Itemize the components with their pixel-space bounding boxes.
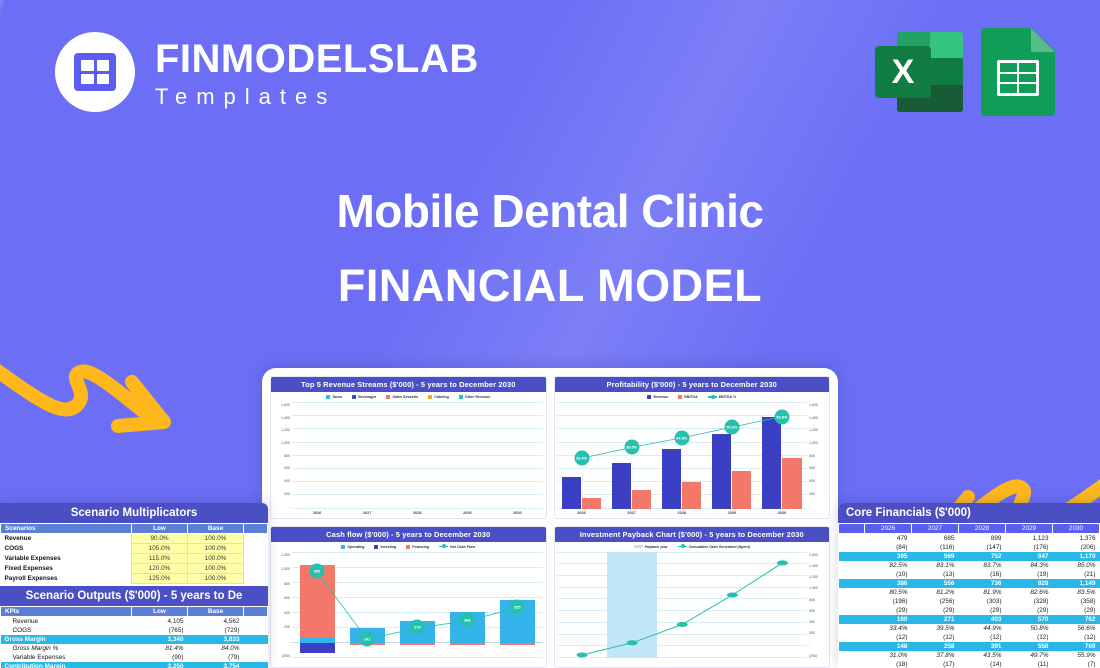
x-tick: 2028 bbox=[413, 511, 421, 515]
cell-value: 43.5% bbox=[959, 651, 1006, 660]
row-spacer bbox=[839, 579, 865, 588]
legend-item: Operating bbox=[341, 545, 364, 549]
legend-label: Catering bbox=[434, 395, 449, 399]
col-base: Base bbox=[188, 524, 244, 534]
bar-group bbox=[292, 402, 543, 509]
cell-value: 85.0% bbox=[1053, 561, 1100, 570]
row-spacer bbox=[839, 642, 865, 651]
chart-profitability[interactable]: Profitability ($'000) - 5 years to Decem… bbox=[554, 376, 831, 519]
cell-value: (84) bbox=[865, 543, 912, 552]
legend-label: Beverages bbox=[358, 395, 376, 399]
legend-item: Revenue bbox=[647, 395, 668, 399]
y-axis: 1,600 1,400 1,200 1,000 800 600 400 200 … bbox=[807, 552, 826, 668]
row-spacer bbox=[839, 651, 865, 660]
cell-value: 395 bbox=[865, 552, 912, 561]
cell-value: (7) bbox=[1053, 660, 1100, 668]
row-spacer bbox=[839, 615, 865, 624]
data-label: 39.5% bbox=[624, 440, 639, 455]
page-title: Mobile Dental Clinic FINANCIAL MODEL bbox=[0, 185, 1100, 312]
legend-label: Investing bbox=[380, 545, 396, 549]
cell-value: 49.7% bbox=[1006, 651, 1053, 660]
legend-item: EBITDA bbox=[678, 395, 697, 399]
cell-value: (18) bbox=[865, 660, 912, 668]
row-spacer bbox=[839, 561, 865, 570]
cell-base: 4,562 bbox=[188, 617, 244, 627]
table-row[interactable]: Fixed Expenses120.0%100.0% bbox=[1, 564, 268, 574]
arrow-left-decoration bbox=[0, 300, 222, 490]
cell-low: 4,105 bbox=[132, 617, 188, 627]
y-tick: 200 bbox=[809, 492, 815, 496]
cell-value: (29) bbox=[912, 606, 959, 615]
legend-item: Tacos bbox=[326, 395, 342, 399]
row-spacer bbox=[839, 597, 865, 606]
cell-value: 50.8% bbox=[1006, 624, 1053, 633]
cell-base: 100.0% bbox=[188, 564, 244, 574]
cell-value: (29) bbox=[865, 606, 912, 615]
table-row[interactable]: 3955697529471,170 bbox=[839, 552, 1100, 561]
cell-value: 55.9% bbox=[1053, 651, 1100, 660]
table-row[interactable]: Variable Expenses(90)(79) bbox=[1, 653, 268, 662]
col-spacer bbox=[839, 524, 865, 534]
data-label: 33.4% bbox=[574, 451, 589, 466]
legend-label: Net Cash Flow bbox=[450, 545, 475, 549]
y-tick: 1,200 bbox=[281, 553, 290, 557]
data-label: 525 bbox=[510, 600, 525, 615]
data-label: 56.8% bbox=[774, 409, 789, 424]
legend-item: Financing bbox=[406, 545, 429, 549]
col-base: Base bbox=[188, 607, 244, 617]
table-row[interactable]: (10)(13)(16)(19)(21) bbox=[839, 570, 1100, 579]
cell-low: 105.0% bbox=[132, 544, 188, 554]
row-label: Fixed Expenses bbox=[1, 564, 132, 574]
cell-value: 556 bbox=[912, 579, 959, 588]
row-label: COGS bbox=[1, 626, 132, 635]
cell-value: 258 bbox=[912, 642, 959, 651]
table-row[interactable]: Variable Expenses115.0%100.0% bbox=[1, 554, 268, 564]
chart-legend: Payback year Cumulative Cash Generated (… bbox=[555, 542, 830, 550]
x-axis: 2026 2027 2028 2029 2030 bbox=[557, 509, 808, 518]
col-kpis: KPIs bbox=[1, 607, 132, 617]
table-row[interactable]: (18)(17)(14)(11)(7) bbox=[839, 660, 1100, 668]
net-cash-flow-line bbox=[292, 552, 543, 668]
y-tick: 1,000 bbox=[281, 441, 290, 445]
cell-value: 752 bbox=[959, 552, 1006, 561]
y-tick: 1,600 bbox=[809, 403, 818, 407]
data-label: 44.9% bbox=[674, 430, 689, 445]
data-label: 959 bbox=[310, 564, 325, 579]
cell-value: (358) bbox=[1053, 597, 1100, 606]
cell-extra bbox=[244, 626, 268, 635]
cell-value: (16) bbox=[959, 570, 1006, 579]
row-label: Revenue bbox=[1, 617, 132, 627]
cell-base: (729) bbox=[188, 626, 244, 635]
y-tick: 1,000 bbox=[281, 567, 290, 571]
cell-extra bbox=[244, 564, 268, 574]
cell-value: 83.5% bbox=[1053, 588, 1100, 597]
chart-investment-payback[interactable]: Investment Payback Chart ($'000) - 5 yea… bbox=[554, 526, 831, 668]
table-header-row: KPIs Low Base bbox=[1, 607, 268, 617]
row-spacer bbox=[839, 534, 865, 544]
row-label: Gross Margin % bbox=[1, 644, 132, 653]
scenario-multiplicators-table[interactable]: Scenarios Low Base Revenue90.0%100.0%COG… bbox=[0, 523, 268, 584]
table-row[interactable]: (196)(256)(303)(328)(358) bbox=[839, 597, 1100, 606]
cell-value: 1,123 bbox=[1006, 534, 1053, 544]
table-row[interactable]: Contribution Margin3,2503,754 bbox=[1, 662, 268, 668]
y-tick: 1,000 bbox=[809, 586, 818, 590]
chart-title: Cash flow ($'000) - 5 years to December … bbox=[271, 527, 546, 542]
row-spacer bbox=[839, 624, 865, 633]
cell-value: (256) bbox=[912, 597, 959, 606]
brand-tagline: Templates bbox=[155, 86, 479, 108]
cell-base: 100.0% bbox=[188, 534, 244, 544]
cumulative-cash-line bbox=[557, 552, 808, 668]
data-label: 141 bbox=[360, 631, 375, 646]
y-tick: 200 bbox=[809, 631, 815, 635]
y-tick: 800 bbox=[284, 582, 290, 586]
cell-value: (12) bbox=[959, 633, 1006, 642]
legend-item: Payback year bbox=[634, 545, 668, 549]
cell-value: 899 bbox=[959, 534, 1006, 544]
x-tick: 2027 bbox=[627, 511, 635, 515]
table-row[interactable]: 33.4%39.5%44.9%50.8%56.6% bbox=[839, 624, 1100, 633]
cell-value: 403 bbox=[959, 615, 1006, 624]
x-tick: 2029 bbox=[463, 511, 471, 515]
cell-value: 1,170 bbox=[1053, 552, 1100, 561]
cell-value: (12) bbox=[1053, 633, 1100, 642]
table-row[interactable]: 82.5%83.1%83.7%84.3%85.0% bbox=[839, 561, 1100, 570]
y-tick: 1,400 bbox=[281, 416, 290, 420]
col-low: Low bbox=[132, 607, 188, 617]
y-tick: 600 bbox=[809, 609, 815, 613]
chart-title: Top 5 Revenue Streams ($'000) - 5 years … bbox=[271, 377, 546, 392]
table-row[interactable]: Payroll Expenses125.0%100.0% bbox=[1, 574, 268, 584]
legend-label: EBITDA bbox=[684, 395, 697, 399]
col-low: Low bbox=[132, 524, 188, 534]
cell-value: (303) bbox=[959, 597, 1006, 606]
table-row[interactable]: Revenue4,1054,562 bbox=[1, 617, 268, 627]
y-axis: 1,200 1,000 800 600 400 200 - (200) bbox=[273, 552, 292, 668]
table-row[interactable]: 80.5%81.2%81.9%82.6%83.5% bbox=[839, 588, 1100, 597]
row-label: Contribution Margin bbox=[1, 662, 132, 668]
cell-value: 928 bbox=[1006, 579, 1053, 588]
cell-low: 3,250 bbox=[132, 662, 188, 668]
cell-value: (13) bbox=[912, 570, 959, 579]
data-label: 50.9% bbox=[724, 420, 739, 435]
cell-value: (21) bbox=[1053, 570, 1100, 579]
col-year: 2029 bbox=[1006, 524, 1053, 534]
cell-value: 569 bbox=[912, 552, 959, 561]
col-extra bbox=[244, 524, 268, 534]
col-scenarios: Scenarios bbox=[1, 524, 132, 534]
y-tick: 400 bbox=[809, 479, 815, 483]
table-row[interactable]: 160271403570762 bbox=[839, 615, 1100, 624]
y-tick: 1,600 bbox=[281, 403, 290, 407]
table-row[interactable]: Gross Margin %81.4%84.0% bbox=[1, 644, 268, 653]
x-tick: 2029 bbox=[728, 511, 736, 515]
table-row[interactable]: 148258391558769 bbox=[839, 642, 1100, 651]
cell-value: (12) bbox=[865, 633, 912, 642]
cell-value: 56.6% bbox=[1053, 624, 1100, 633]
cell-value: 83.1% bbox=[912, 561, 959, 570]
cell-value: 84.3% bbox=[1006, 561, 1053, 570]
cell-value: (147) bbox=[959, 543, 1006, 552]
cell-low: 125.0% bbox=[132, 574, 188, 584]
chart-legend: Revenue EBITDA EBITDA % bbox=[555, 392, 830, 400]
cell-value: 81.2% bbox=[912, 588, 959, 597]
cell-value: 769 bbox=[1053, 642, 1100, 651]
x-axis: 2026 2027 2028 2029 2030 bbox=[292, 509, 543, 518]
table-row[interactable]: COGS(765)(729) bbox=[1, 626, 268, 635]
cell-extra bbox=[244, 644, 268, 653]
cell-base: 100.0% bbox=[188, 544, 244, 554]
row-label: Revenue bbox=[1, 534, 132, 544]
chart-title: Profitability ($'000) - 5 years to Decem… bbox=[555, 377, 830, 392]
brand-logo: FINMODELSLAB Templates bbox=[55, 32, 479, 112]
y-tick: 200 bbox=[284, 625, 290, 629]
y-tick: (200) bbox=[282, 654, 290, 658]
dashboard-preview[interactable]: Top 5 Revenue Streams ($'000) - 5 years … bbox=[262, 368, 838, 668]
col-year: 2030 bbox=[1053, 524, 1100, 534]
cell-value: 81.9% bbox=[959, 588, 1006, 597]
table-row[interactable]: (29)(29)(29)(29)(29) bbox=[839, 606, 1100, 615]
table-row[interactable]: Revenue90.0%100.0% bbox=[1, 534, 268, 544]
table-row[interactable]: 31.0%37.8%43.5%49.7%55.9% bbox=[839, 651, 1100, 660]
legend-item: Catering bbox=[428, 395, 449, 399]
x-tick: 2028 bbox=[678, 511, 686, 515]
cell-value: 762 bbox=[1053, 615, 1100, 624]
ebitda-percent-line bbox=[557, 402, 808, 518]
data-label: 279 bbox=[410, 620, 425, 635]
table-row[interactable]: (84)(116)(147)(176)(206) bbox=[839, 543, 1100, 552]
chart-legend: Operating Investing Financing Net Cash F… bbox=[271, 542, 546, 550]
cell-low: 90.0% bbox=[132, 534, 188, 544]
cell-value: (12) bbox=[1006, 633, 1053, 642]
y-tick: 1,400 bbox=[809, 564, 818, 568]
file-type-icons: X bbox=[875, 28, 1055, 116]
cell-value: 37.8% bbox=[912, 651, 959, 660]
scenario-multiplicators-title: Scenario Multiplicators bbox=[0, 503, 268, 523]
cell-value: 39.5% bbox=[912, 624, 959, 633]
y-tick: - bbox=[809, 505, 810, 509]
cell-value: 685 bbox=[912, 534, 959, 544]
row-label: COGS bbox=[1, 544, 132, 554]
cell-value: 570 bbox=[1006, 615, 1053, 624]
cell-value: 947 bbox=[1006, 552, 1053, 561]
cell-value: (17) bbox=[912, 660, 959, 668]
y-tick: 600 bbox=[284, 466, 290, 470]
table-row[interactable]: 4796858991,1231,376 bbox=[839, 534, 1100, 544]
cell-value: 82.6% bbox=[1006, 588, 1053, 597]
col-year: 2027 bbox=[912, 524, 959, 534]
y-tick: - bbox=[289, 505, 290, 509]
legend-item: Beverages bbox=[352, 395, 376, 399]
cell-low: 115.0% bbox=[132, 554, 188, 564]
row-spacer bbox=[839, 552, 865, 561]
legend-label: Financing bbox=[412, 545, 429, 549]
y-tick: 800 bbox=[284, 454, 290, 458]
cell-base: 100.0% bbox=[188, 554, 244, 564]
y-tick: 1,200 bbox=[809, 428, 818, 432]
row-spacer bbox=[839, 543, 865, 552]
cell-value: 33.4% bbox=[865, 624, 912, 633]
cell-value: (19) bbox=[1006, 570, 1053, 579]
x-tick: 2026 bbox=[577, 511, 585, 515]
cell-value: 386 bbox=[865, 579, 912, 588]
y-tick: 800 bbox=[809, 454, 815, 458]
row-spacer bbox=[839, 570, 865, 579]
legend-item: Other Revenue bbox=[459, 395, 491, 399]
x-tick: 2030 bbox=[513, 511, 521, 515]
y-tick: 1,000 bbox=[809, 441, 818, 445]
col-extra bbox=[244, 607, 268, 617]
y-tick: - bbox=[809, 643, 810, 647]
col-year: 2028 bbox=[959, 524, 1006, 534]
table-row[interactable]: Gross Margin3,3403,833 bbox=[1, 635, 268, 644]
y-tick: 400 bbox=[809, 620, 815, 624]
cell-value: (116) bbox=[912, 543, 959, 552]
cell-value: 1,149 bbox=[1053, 579, 1100, 588]
cell-value: 479 bbox=[865, 534, 912, 544]
cell-base: 3,833 bbox=[188, 635, 244, 644]
cell-extra bbox=[244, 617, 268, 627]
cell-value: 82.5% bbox=[865, 561, 912, 570]
chart-cash-flow[interactable]: Cash flow ($'000) - 5 years to December … bbox=[270, 526, 547, 668]
core-financials-title: Core Financials ($'000) bbox=[838, 503, 1100, 523]
legend-item: Sides Desserts bbox=[386, 395, 418, 399]
cell-value: 31.0% bbox=[865, 651, 912, 660]
row-spacer bbox=[839, 660, 865, 668]
y-tick: 1,200 bbox=[809, 575, 818, 579]
table-row[interactable]: 3865567369281,149 bbox=[839, 579, 1100, 588]
legend-label: Tacos bbox=[332, 395, 342, 399]
legend-label: Sides Desserts bbox=[392, 395, 418, 399]
scenario-outputs-table[interactable]: KPIs Low Base Revenue4,1054,562COGS(765)… bbox=[0, 606, 268, 668]
cell-extra bbox=[244, 534, 268, 544]
legend-label: EBITDA % bbox=[719, 395, 736, 399]
legend-item: EBITDA % bbox=[708, 395, 736, 399]
x-tick: 2027 bbox=[363, 511, 371, 515]
cell-low: (765) bbox=[132, 626, 188, 635]
cell-base: 100.0% bbox=[188, 574, 244, 584]
core-financials-panel[interactable]: Core Financials ($'000) 2026 2027 2028 2… bbox=[838, 503, 1100, 668]
brand-name: FINMODELSLAB bbox=[155, 39, 479, 79]
table-row[interactable]: COGS105.0%100.0% bbox=[1, 544, 268, 554]
cell-value: (328) bbox=[1006, 597, 1053, 606]
cell-value: (14) bbox=[959, 660, 1006, 668]
scenario-panel[interactable]: Scenario Multiplicators Scenarios Low Ba… bbox=[0, 503, 268, 668]
excel-x-glyph: X bbox=[875, 46, 931, 98]
cell-value: (10) bbox=[865, 570, 912, 579]
cell-value: 558 bbox=[1006, 642, 1053, 651]
col-year: 2026 bbox=[865, 524, 912, 534]
cell-extra bbox=[244, 574, 268, 584]
cell-value: (206) bbox=[1053, 543, 1100, 552]
legend-label: Payback year bbox=[645, 545, 668, 549]
core-financials-table[interactable]: 2026 2027 2028 2029 2030 4796858991,1231… bbox=[838, 523, 1100, 668]
cell-value: 80.5% bbox=[865, 588, 912, 597]
table-header-row: 2026 2027 2028 2029 2030 bbox=[839, 524, 1100, 534]
row-spacer bbox=[839, 633, 865, 642]
cell-extra bbox=[244, 635, 268, 644]
chart-legend: Tacos Beverages Sides Desserts Catering … bbox=[271, 392, 546, 400]
legend-label: Operating bbox=[347, 545, 364, 549]
cell-value: 44.9% bbox=[959, 624, 1006, 633]
row-label: Variable Expenses bbox=[1, 554, 132, 564]
y-tick: 1,600 bbox=[809, 553, 818, 557]
cell-value: (176) bbox=[1006, 543, 1053, 552]
cell-value: (29) bbox=[1006, 606, 1053, 615]
cell-value: (11) bbox=[1006, 660, 1053, 668]
legend-item: Net Cash Flow bbox=[439, 545, 475, 549]
row-spacer bbox=[839, 606, 865, 615]
cell-value: 736 bbox=[959, 579, 1006, 588]
cell-value: 391 bbox=[959, 642, 1006, 651]
cell-extra bbox=[244, 554, 268, 564]
y-tick: 1,400 bbox=[809, 416, 818, 420]
excel-icon: X bbox=[875, 28, 963, 116]
cell-extra bbox=[244, 662, 268, 668]
chart-title: Investment Payback Chart ($'000) - 5 yea… bbox=[555, 527, 830, 542]
cell-base: 3,754 bbox=[188, 662, 244, 668]
cell-value: 1,376 bbox=[1053, 534, 1100, 544]
row-label: Variable Expenses bbox=[1, 653, 132, 662]
logo-mark bbox=[55, 32, 135, 112]
cell-value: 271 bbox=[912, 615, 959, 624]
cell-value: (29) bbox=[1053, 606, 1100, 615]
y-tick: (200) bbox=[809, 654, 817, 658]
cell-low: 120.0% bbox=[132, 564, 188, 574]
y-tick: 1,200 bbox=[281, 428, 290, 432]
y-axis: 1,600 1,400 1,200 1,000 800 600 400 200 … bbox=[273, 402, 292, 518]
legend-label: Revenue bbox=[653, 395, 668, 399]
cell-base: (79) bbox=[188, 653, 244, 662]
cell-low: 81.4% bbox=[132, 644, 188, 653]
cell-low: (90) bbox=[132, 653, 188, 662]
y-tick: 600 bbox=[809, 466, 815, 470]
cell-base: 84.0% bbox=[188, 644, 244, 653]
cell-value: (29) bbox=[959, 606, 1006, 615]
grid-squares-icon bbox=[74, 53, 116, 91]
cell-value: (196) bbox=[865, 597, 912, 606]
legend-label: Cumulative Cash Generated (Spent) bbox=[689, 545, 750, 549]
table-row[interactable]: (12)(12)(12)(12)(12) bbox=[839, 633, 1100, 642]
row-spacer bbox=[839, 588, 865, 597]
cell-extra bbox=[244, 653, 268, 662]
cell-value: 148 bbox=[865, 642, 912, 651]
cell-low: 3,340 bbox=[132, 635, 188, 644]
cell-value: 83.7% bbox=[959, 561, 1006, 570]
cell-value: 160 bbox=[865, 615, 912, 624]
y-tick: 200 bbox=[284, 492, 290, 496]
legend-label: Other Revenue bbox=[465, 395, 491, 399]
cell-value: (12) bbox=[912, 633, 959, 642]
row-label: Gross Margin bbox=[1, 635, 132, 644]
chart-revenue-streams[interactable]: Top 5 Revenue Streams ($'000) - 5 years … bbox=[270, 376, 547, 519]
scenario-outputs-title: Scenario Outputs ($'000) - 5 years to De bbox=[0, 586, 268, 606]
y-tick: 800 bbox=[809, 598, 815, 602]
cell-extra bbox=[244, 544, 268, 554]
legend-item: Cumulative Cash Generated (Spent) bbox=[678, 545, 750, 549]
y-tick: 400 bbox=[284, 611, 290, 615]
y-tick: 600 bbox=[284, 596, 290, 600]
x-tick: 2030 bbox=[778, 511, 786, 515]
y-tick: 400 bbox=[284, 479, 290, 483]
data-label: 366 bbox=[460, 613, 475, 628]
title-line-1: Mobile Dental Clinic bbox=[0, 185, 1100, 238]
x-tick: 2026 bbox=[313, 511, 321, 515]
table-header-row: Scenarios Low Base bbox=[1, 524, 268, 534]
google-sheets-icon bbox=[981, 28, 1055, 116]
